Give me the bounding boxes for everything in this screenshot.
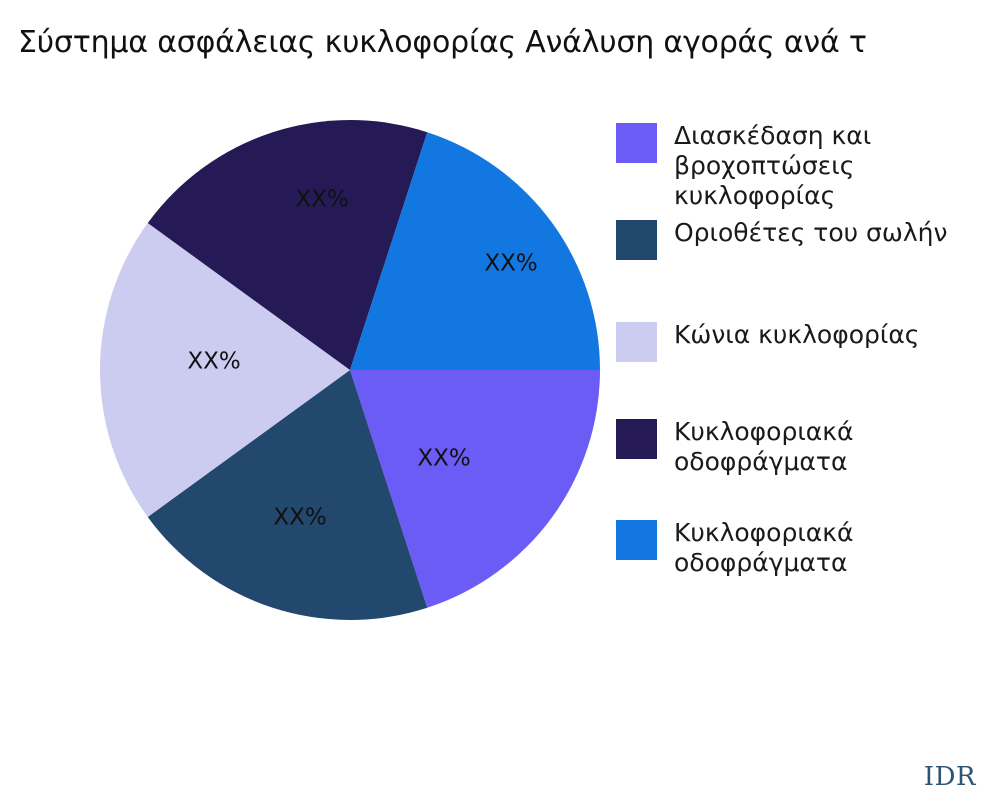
legend-item[interactable]: Οριοθέτες του σωλήν bbox=[616, 218, 1000, 260]
pie-chart-svg: XX%XX%XX%XX%XX% bbox=[100, 120, 600, 620]
legend-color-swatch bbox=[616, 419, 657, 459]
legend-item[interactable]: Κυκλοφοριακά οδοφράγματα bbox=[616, 417, 1000, 477]
chart-legend: Διασκέδαση και βροχοπτώσεις κυκλοφορίαςΟ… bbox=[616, 112, 1000, 612]
chart-canvas: Σύστημα ασφάλειας κυκλοφορίας Ανάλυση αγ… bbox=[0, 0, 1000, 800]
legend-color-swatch bbox=[616, 520, 657, 560]
legend-item[interactable]: Διασκέδαση και βροχοπτώσεις κυκλοφορίας bbox=[616, 121, 1000, 211]
legend-color-swatch bbox=[616, 220, 657, 260]
pie-slice-label: XX% bbox=[273, 505, 326, 531]
pie-slice-group bbox=[100, 120, 600, 620]
pie-slice-label: XX% bbox=[187, 349, 240, 375]
legend-color-swatch bbox=[616, 123, 657, 163]
legend-item-label: Κώνια κυκλοφορίας bbox=[674, 320, 919, 350]
pie-slice-label: XX% bbox=[484, 251, 537, 277]
pie-slice-label: XX% bbox=[417, 446, 470, 472]
legend-item-label: Διασκέδαση και βροχοπτώσεις κυκλοφορίας bbox=[674, 121, 871, 211]
pie-slice-label: XX% bbox=[295, 187, 348, 213]
watermark-idr: IDR bbox=[924, 762, 976, 792]
legend-item-label: Κυκλοφοριακά οδοφράγματα bbox=[674, 518, 854, 578]
pie-chart: XX%XX%XX%XX%XX% bbox=[100, 120, 600, 620]
legend-item-label: Οριοθέτες του σωλήν bbox=[674, 218, 947, 248]
legend-item[interactable]: Κώνια κυκλοφορίας bbox=[616, 320, 1000, 362]
page-title: Σύστημα ασφάλειας κυκλοφορίας Ανάλυση αγ… bbox=[18, 24, 867, 62]
legend-color-swatch bbox=[616, 322, 657, 362]
legend-item-label: Κυκλοφοριακά οδοφράγματα bbox=[674, 417, 854, 477]
legend-item[interactable]: Κυκλοφοριακά οδοφράγματα bbox=[616, 518, 1000, 578]
